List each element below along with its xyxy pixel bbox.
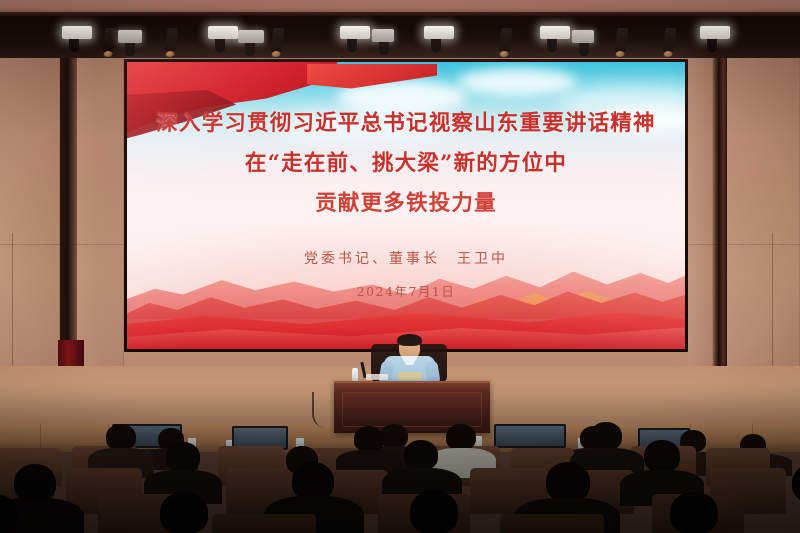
audience-head <box>106 424 136 450</box>
audience-head <box>160 492 208 533</box>
audience-head <box>354 426 384 452</box>
audience-head <box>590 422 622 450</box>
audience-head <box>670 492 718 533</box>
audience-head <box>404 440 438 470</box>
audience-head <box>644 440 680 472</box>
audience-head <box>446 424 476 450</box>
audience-head <box>292 462 334 500</box>
seat-back[interactable] <box>500 514 604 533</box>
seat-back[interactable] <box>212 514 316 533</box>
audience-head <box>14 464 56 502</box>
audience-head <box>792 464 800 502</box>
audience-head <box>410 490 458 533</box>
audience-head <box>546 462 590 502</box>
audience-head <box>380 424 408 448</box>
audience-head <box>166 442 200 472</box>
conference-hall-scene: 深入学习贯彻习近平总书记视察山东重要讲话精神 在“走在前、挑大梁”新的方位中 贡… <box>0 0 800 533</box>
audience-area <box>0 0 800 533</box>
